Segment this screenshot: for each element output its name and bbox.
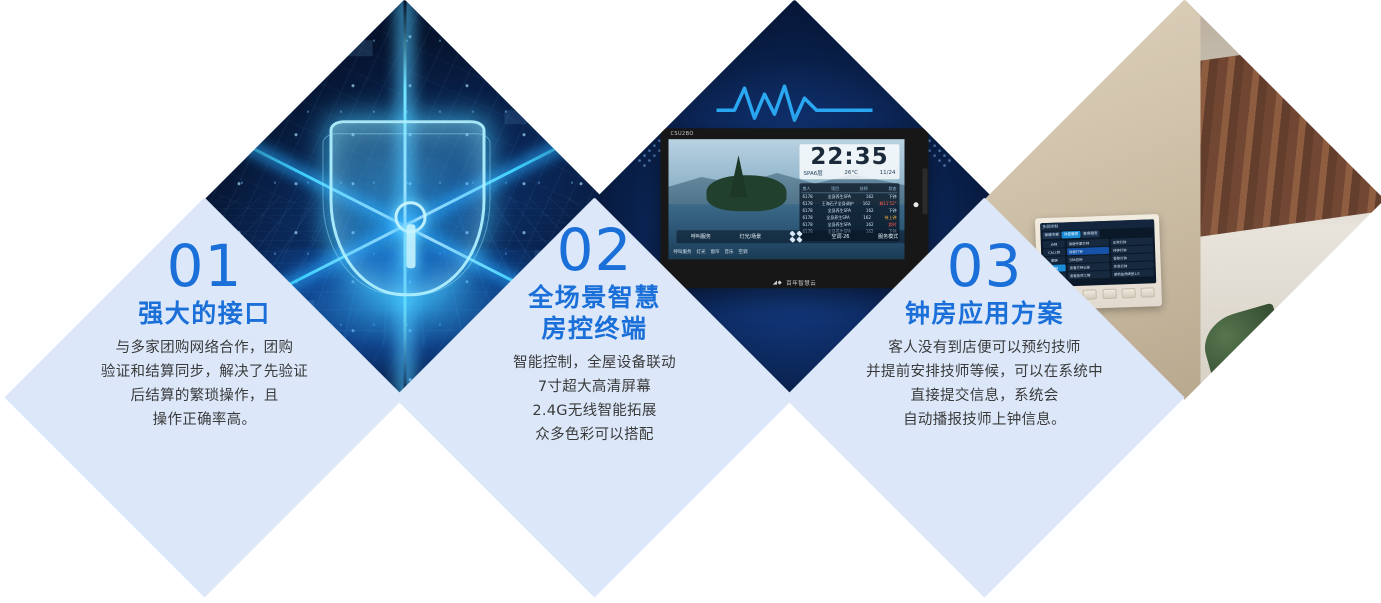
shield-icon [330, 120, 486, 296]
apps-grid-icon[interactable] [790, 230, 803, 241]
panel-list-item[interactable]: SPA拉钟 [1067, 254, 1109, 262]
tablet-chin-brand: ◢◆ 百年智慧云 [661, 279, 929, 287]
panel-button[interactable] [1140, 287, 1154, 297]
cell-room: 6178 [803, 200, 813, 207]
bottom-bar-item[interactable]: 服务模式 [878, 233, 898, 240]
cell-tech: 162 [866, 193, 874, 200]
clock-widget: 22:35 SPA6层 26°C 11/24 [800, 144, 900, 179]
card-description-line: 与多家团购网络合作，团购 [5, 336, 405, 360]
tablet-camera-icon [914, 202, 919, 207]
cell-item: 全身养生SPA [828, 221, 851, 228]
tablet-brand-top: CSU2BO [671, 131, 694, 137]
card-description-line: 客人没有到店便可以预约技师 [785, 336, 1185, 360]
panel-mid-list[interactable]: 保健专案打钟 保健打钟 SPA拉钟 查看打钟记录 查看技师工牌 [1067, 238, 1110, 279]
card-description: 客人没有到店便可以预约技师 并提前安排技师等候，可以在系统中 直接提交信息，系统… [785, 336, 1185, 432]
feature-diamonds-stage: CSU2BO 22:35 SPA6层 26°C [0, 0, 1381, 603]
cell-room: 6178 [803, 207, 813, 214]
panel-button[interactable] [1121, 287, 1135, 297]
wallpaper-tree [730, 154, 748, 196]
table-row: 6178 全身养生SPA 162 下钟 [802, 207, 898, 214]
panel-list-item-selected[interactable]: 保健打钟 [1067, 246, 1109, 254]
panel-list-item[interactable]: 正常打钟 [1111, 237, 1153, 245]
lock-keyhole-icon [395, 201, 427, 233]
plant-foliage [1244, 326, 1324, 400]
cell-tech: 162 [866, 207, 874, 214]
quick-control-item[interactable]: 灯光 [697, 249, 706, 255]
tablet-side-button[interactable] [923, 168, 928, 214]
bottom-bar-item[interactable]: 灯光/场景 [740, 233, 762, 240]
card-description-line: 并提前安排技师等候，可以在系统中 [785, 360, 1185, 384]
col-status: 状态 [888, 185, 896, 192]
room-floor [1185, 223, 1381, 399]
card-description-line: 后结算的繁琐操作，且 [5, 384, 405, 408]
tablet-screen[interactable]: 22:35 SPA6层 26°C 11/24 房人 项目 技师 [669, 139, 905, 259]
panel-list-item[interactable]: 暂歇打钟 [1111, 253, 1153, 261]
quick-control-strip[interactable]: 呼叫服务 灯光 窗帘 音乐 空调 [674, 249, 824, 255]
panel-tab[interactable]: 保健专案 [1042, 231, 1061, 239]
cell-item: 全身养生SPA [828, 193, 851, 200]
clock-temp: 26°C [844, 170, 858, 176]
panel-tab[interactable]: 客房服务 [1081, 229, 1100, 237]
tablet-bottom-bar[interactable]: 呼叫服务 灯光/场景 空调·26 服务模式 [677, 230, 905, 243]
table-row: 6178 全身养生SPA 162 超时 [802, 221, 898, 228]
brand-name: 百年智慧云 [786, 279, 816, 287]
clock-time: 22:35 [803, 145, 897, 169]
table-row: 6178 王海石子全身调护 162 剩11'52" [802, 200, 898, 207]
card-description-line: 众多色彩可以搭配 [395, 423, 795, 447]
card-description-line: 直接提交信息，系统会 [785, 384, 1185, 408]
panel-list-item[interactable]: 保健专案打钟 [1067, 238, 1109, 246]
card-description: 与多家团购网络合作，团购 验证和结算同步，解决了先验证 后结算的繁琐操作，且 操… [5, 336, 405, 432]
panel-list-item[interactable]: 查看打钟记录 [1068, 262, 1110, 270]
card-description-line: 验证和结算同步，解决了先验证 [5, 360, 405, 384]
tablet-device: CSU2BO 22:35 SPA6层 26°C [661, 128, 929, 288]
panel-list-item[interactable]: 休息打钟 [1112, 261, 1154, 269]
clock-subinfo: SPA6层 26°C 11/24 [803, 169, 897, 177]
panel-menu-item[interactable]: CALL钟 [1043, 248, 1065, 256]
cell-item: 全身养生SPA [826, 214, 849, 221]
heartbeat-icon [717, 80, 873, 126]
brand-logo-icon: ◢◆ [773, 280, 782, 286]
panel-button[interactable] [1102, 288, 1116, 298]
card-description: 智能控制，全屋设备联动 7寸超大高清屏幕 2.4G无线智能拓展 众多色彩可以搭配 [395, 351, 795, 447]
cell-item: 全身养生SPA [828, 207, 851, 214]
wooden-partition [1193, 34, 1381, 237]
panel-right-list[interactable]: 正常打钟 排钟打钟 暂歇打钟 休息打钟 更新技师牌型1/2 [1111, 237, 1154, 278]
bottom-bar-item[interactable]: 空调·26 [832, 233, 850, 240]
card-description-line: 智能控制，全屋设备联动 [395, 351, 795, 375]
quick-control-item[interactable]: 音乐 [725, 249, 734, 255]
cell-item: 王海石子全身调护 [822, 200, 854, 207]
cell-status: 下钟 [888, 207, 896, 214]
cell-status: 剩11'52" [879, 200, 896, 207]
panel-list-item[interactable]: 更新技师牌型1/2 [1112, 269, 1154, 277]
card-description-line: 自动播报技师上钟信息。 [785, 408, 1185, 432]
col-room: 房人 [803, 185, 811, 192]
cell-tech: 162 [866, 221, 874, 228]
cell-room: 6178 [803, 214, 813, 221]
card-description-line: 7寸超大高清屏幕 [395, 375, 795, 399]
cell-status: 超时 [888, 221, 896, 228]
quick-control-item[interactable]: 空调 [739, 249, 748, 255]
card-description-line: 操作正确率高。 [5, 408, 405, 432]
clock-zone: SPA6层 [804, 169, 823, 177]
panel-tab-active[interactable]: 沐足服务 [1062, 230, 1081, 238]
col-tech: 技师 [860, 185, 868, 192]
table-row: 6178 全身养生SPA 162 下钟 [802, 193, 898, 200]
room-background-view [1185, 0, 1381, 400]
clock-date: 11/24 [880, 170, 896, 176]
col-item: 项目 [831, 185, 839, 192]
cell-status: 待上钟 [885, 214, 897, 221]
panel-menu-item[interactable]: 点钟 [1043, 240, 1065, 248]
table-row: 6178 全身养生SPA 162 待上钟 [802, 214, 898, 221]
bottom-bar-item[interactable]: 呼叫服务 [691, 233, 711, 240]
cell-room: 6178 [803, 193, 813, 200]
cell-status: 下钟 [888, 193, 896, 200]
service-list-header: 房人 项目 技师 状态 [802, 185, 898, 193]
panel-list-item[interactable]: 查看技师工牌 [1068, 270, 1110, 278]
cell-room: 6178 [803, 221, 813, 228]
cell-tech: 162 [863, 200, 871, 207]
panel-list-item[interactable]: 排钟打钟 [1111, 245, 1153, 253]
quick-control-item[interactable]: 呼叫服务 [674, 249, 692, 255]
card-description-line: 2.4G无线智能拓展 [395, 399, 795, 423]
quick-control-item[interactable]: 窗帘 [711, 249, 720, 255]
cell-tech: 162 [863, 214, 871, 221]
